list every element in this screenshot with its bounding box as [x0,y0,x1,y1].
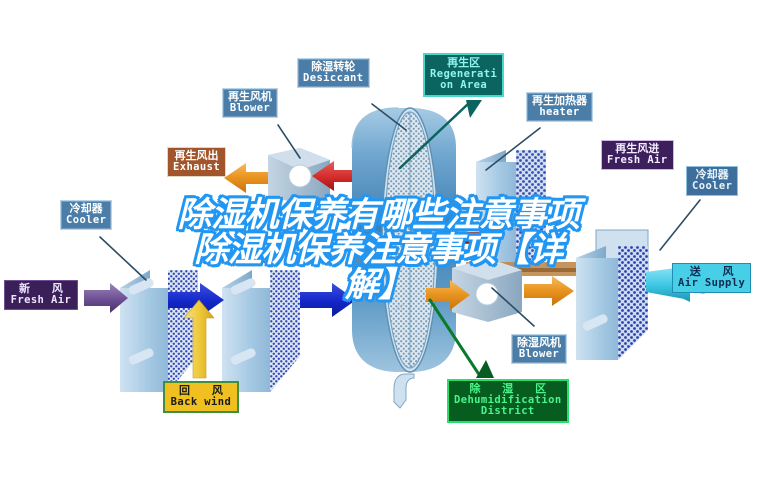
label-desiccant: 除湿转轮 Desiccant [297,58,370,88]
cooler-unit-left-2 [222,270,300,392]
label-regen-blower: 再生风机 Blower [222,88,278,118]
label-regen-heater-en: heater [532,107,587,118]
arrow-process-2 [300,283,356,317]
arrow-exhaust [224,163,268,193]
label-dehumidification-district: 除 湿 区 Dehumidification District [447,379,569,423]
diagram-canvas: xt [0,0,757,488]
label-dehum-blower: 除湿风机 Blower [511,334,567,364]
label-cooler-left-en: Cooler [66,215,106,226]
arrow-dry-air-2 [524,276,574,306]
label-dehum-blower-en: Blower [517,349,561,360]
label-regen-fresh-air-en: Fresh Air [607,155,668,166]
label-air-supply: 送 风 Air Supply [672,263,751,293]
label-fresh-air-en: Fresh Air [10,295,72,306]
cooler-unit-right [576,246,648,360]
label-regen-exhaust-en: Exhaust [173,162,220,173]
label-regeneration-area: 再生区 Regenerati on Area [423,53,504,97]
label-cooler-right-en: Cooler [692,181,732,192]
drain-shape [394,374,414,408]
label-cooler-right: 冷却器 Cooler [686,166,738,196]
label-regen-blower-en: Blower [228,103,272,114]
label-back-wind-en: Back wind [170,397,232,408]
label-desiccant-en: Desiccant [303,73,364,84]
callout-tail-regen-area [466,100,482,118]
label-regen-heater: 再生加热器 heater [526,92,593,122]
label-regeneration-area-en2: on Area [430,80,497,91]
label-air-supply-en: Air Supply [678,278,745,289]
label-back-wind: 回 风 Back wind [163,381,239,413]
svg-text:xt: xt [395,303,404,313]
dehumidifier-schematic: xt [0,0,757,488]
cooler-unit-left [120,270,198,392]
regen-heater-unit [466,150,576,276]
label-regen-fresh-air: 再生风进 Fresh Air [601,140,674,170]
label-dehum-district-en2: District [454,406,562,417]
label-fresh-air: 新 风 Fresh Air [4,280,78,310]
label-cooler-left: 冷却器 Cooler [60,200,112,230]
label-regen-exhaust: 再生风出 Exhaust [167,147,226,177]
callout-tail-dehum [476,360,494,378]
